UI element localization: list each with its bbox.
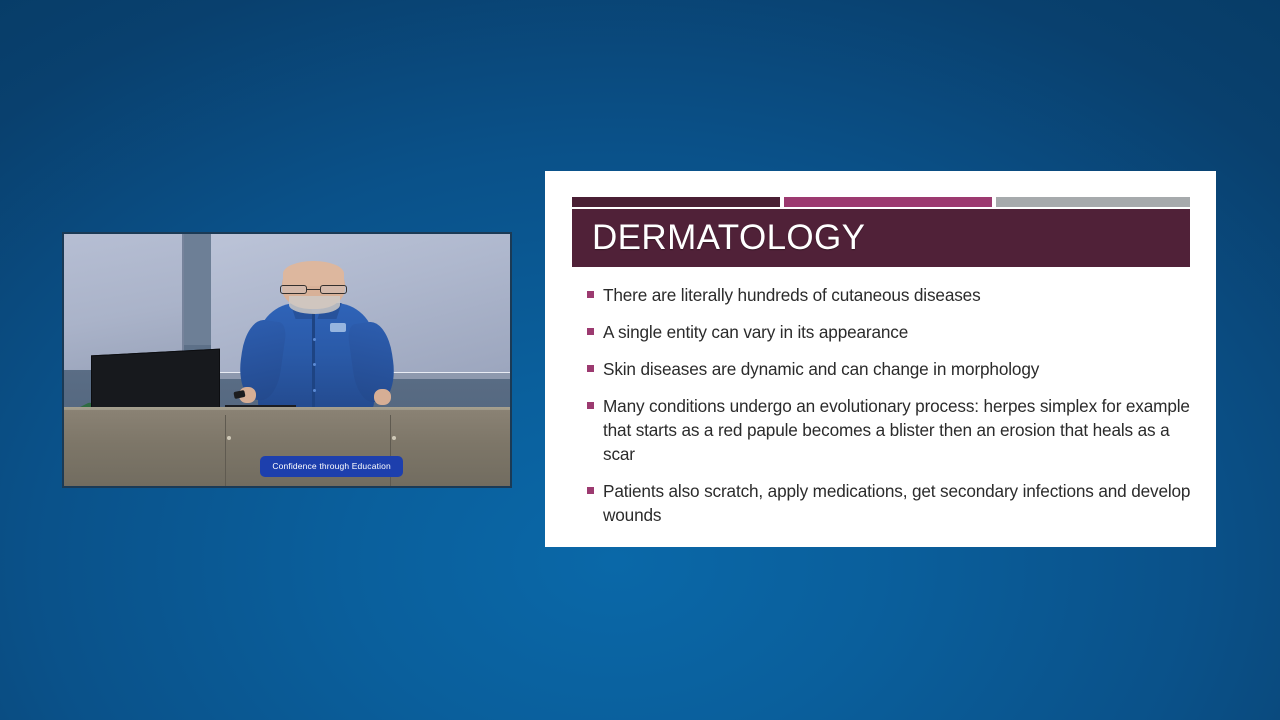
bullet-square-icon [587, 291, 594, 298]
bullet-square-icon [587, 402, 594, 409]
bullet-square-icon [587, 328, 594, 335]
accent-bar-dark [572, 197, 780, 207]
bullet-text: Patients also scratch, apply medications… [603, 479, 1192, 527]
caption-banner-text: Confidence through Education [272, 461, 391, 471]
bullet-text: Many conditions undergo an evolutionary … [603, 394, 1192, 466]
caption-banner: Confidence through Education [260, 456, 403, 477]
presentation-stage: Confidence through Education DERMATOLOGY… [0, 0, 1280, 720]
list-item: Skin diseases are dynamic and can change… [587, 357, 1192, 381]
lecture-video-panel[interactable]: Confidence through Education [62, 232, 512, 488]
slide-title: DERMATOLOGY [592, 218, 865, 258]
bullet-text: A single entity can vary in its appearan… [603, 320, 908, 344]
presenter-scalp [283, 261, 343, 286]
slide-panel[interactable]: DERMATOLOGY There are literally hundreds… [545, 171, 1216, 547]
shirt-logo [330, 323, 346, 332]
accent-bar-magenta [784, 197, 992, 207]
list-item: A single entity can vary in its appearan… [587, 320, 1192, 344]
bullet-text: Skin diseases are dynamic and can change… [603, 357, 1039, 381]
bullet-text: There are literally hundreds of cutaneou… [603, 283, 981, 307]
bullet-square-icon [587, 365, 594, 372]
list-item: Patients also scratch, apply medications… [587, 479, 1192, 527]
video-frame: Confidence through Education [64, 234, 510, 486]
slide-title-bar: DERMATOLOGY [572, 209, 1190, 267]
shirt-placket [312, 313, 315, 411]
list-item: There are literally hundreds of cutaneou… [587, 283, 1192, 307]
bullet-square-icon [587, 487, 594, 494]
glasses-icon [280, 285, 347, 294]
whiteboard-left [62, 232, 184, 370]
slide-bullet-list: There are literally hundreds of cutaneou… [587, 283, 1192, 540]
accent-bar-gray [996, 197, 1190, 207]
accent-bar-row [572, 197, 1190, 207]
podium-seam-left [225, 415, 227, 486]
list-item: Many conditions undergo an evolutionary … [587, 394, 1192, 466]
presenter-hand-right [374, 389, 391, 405]
